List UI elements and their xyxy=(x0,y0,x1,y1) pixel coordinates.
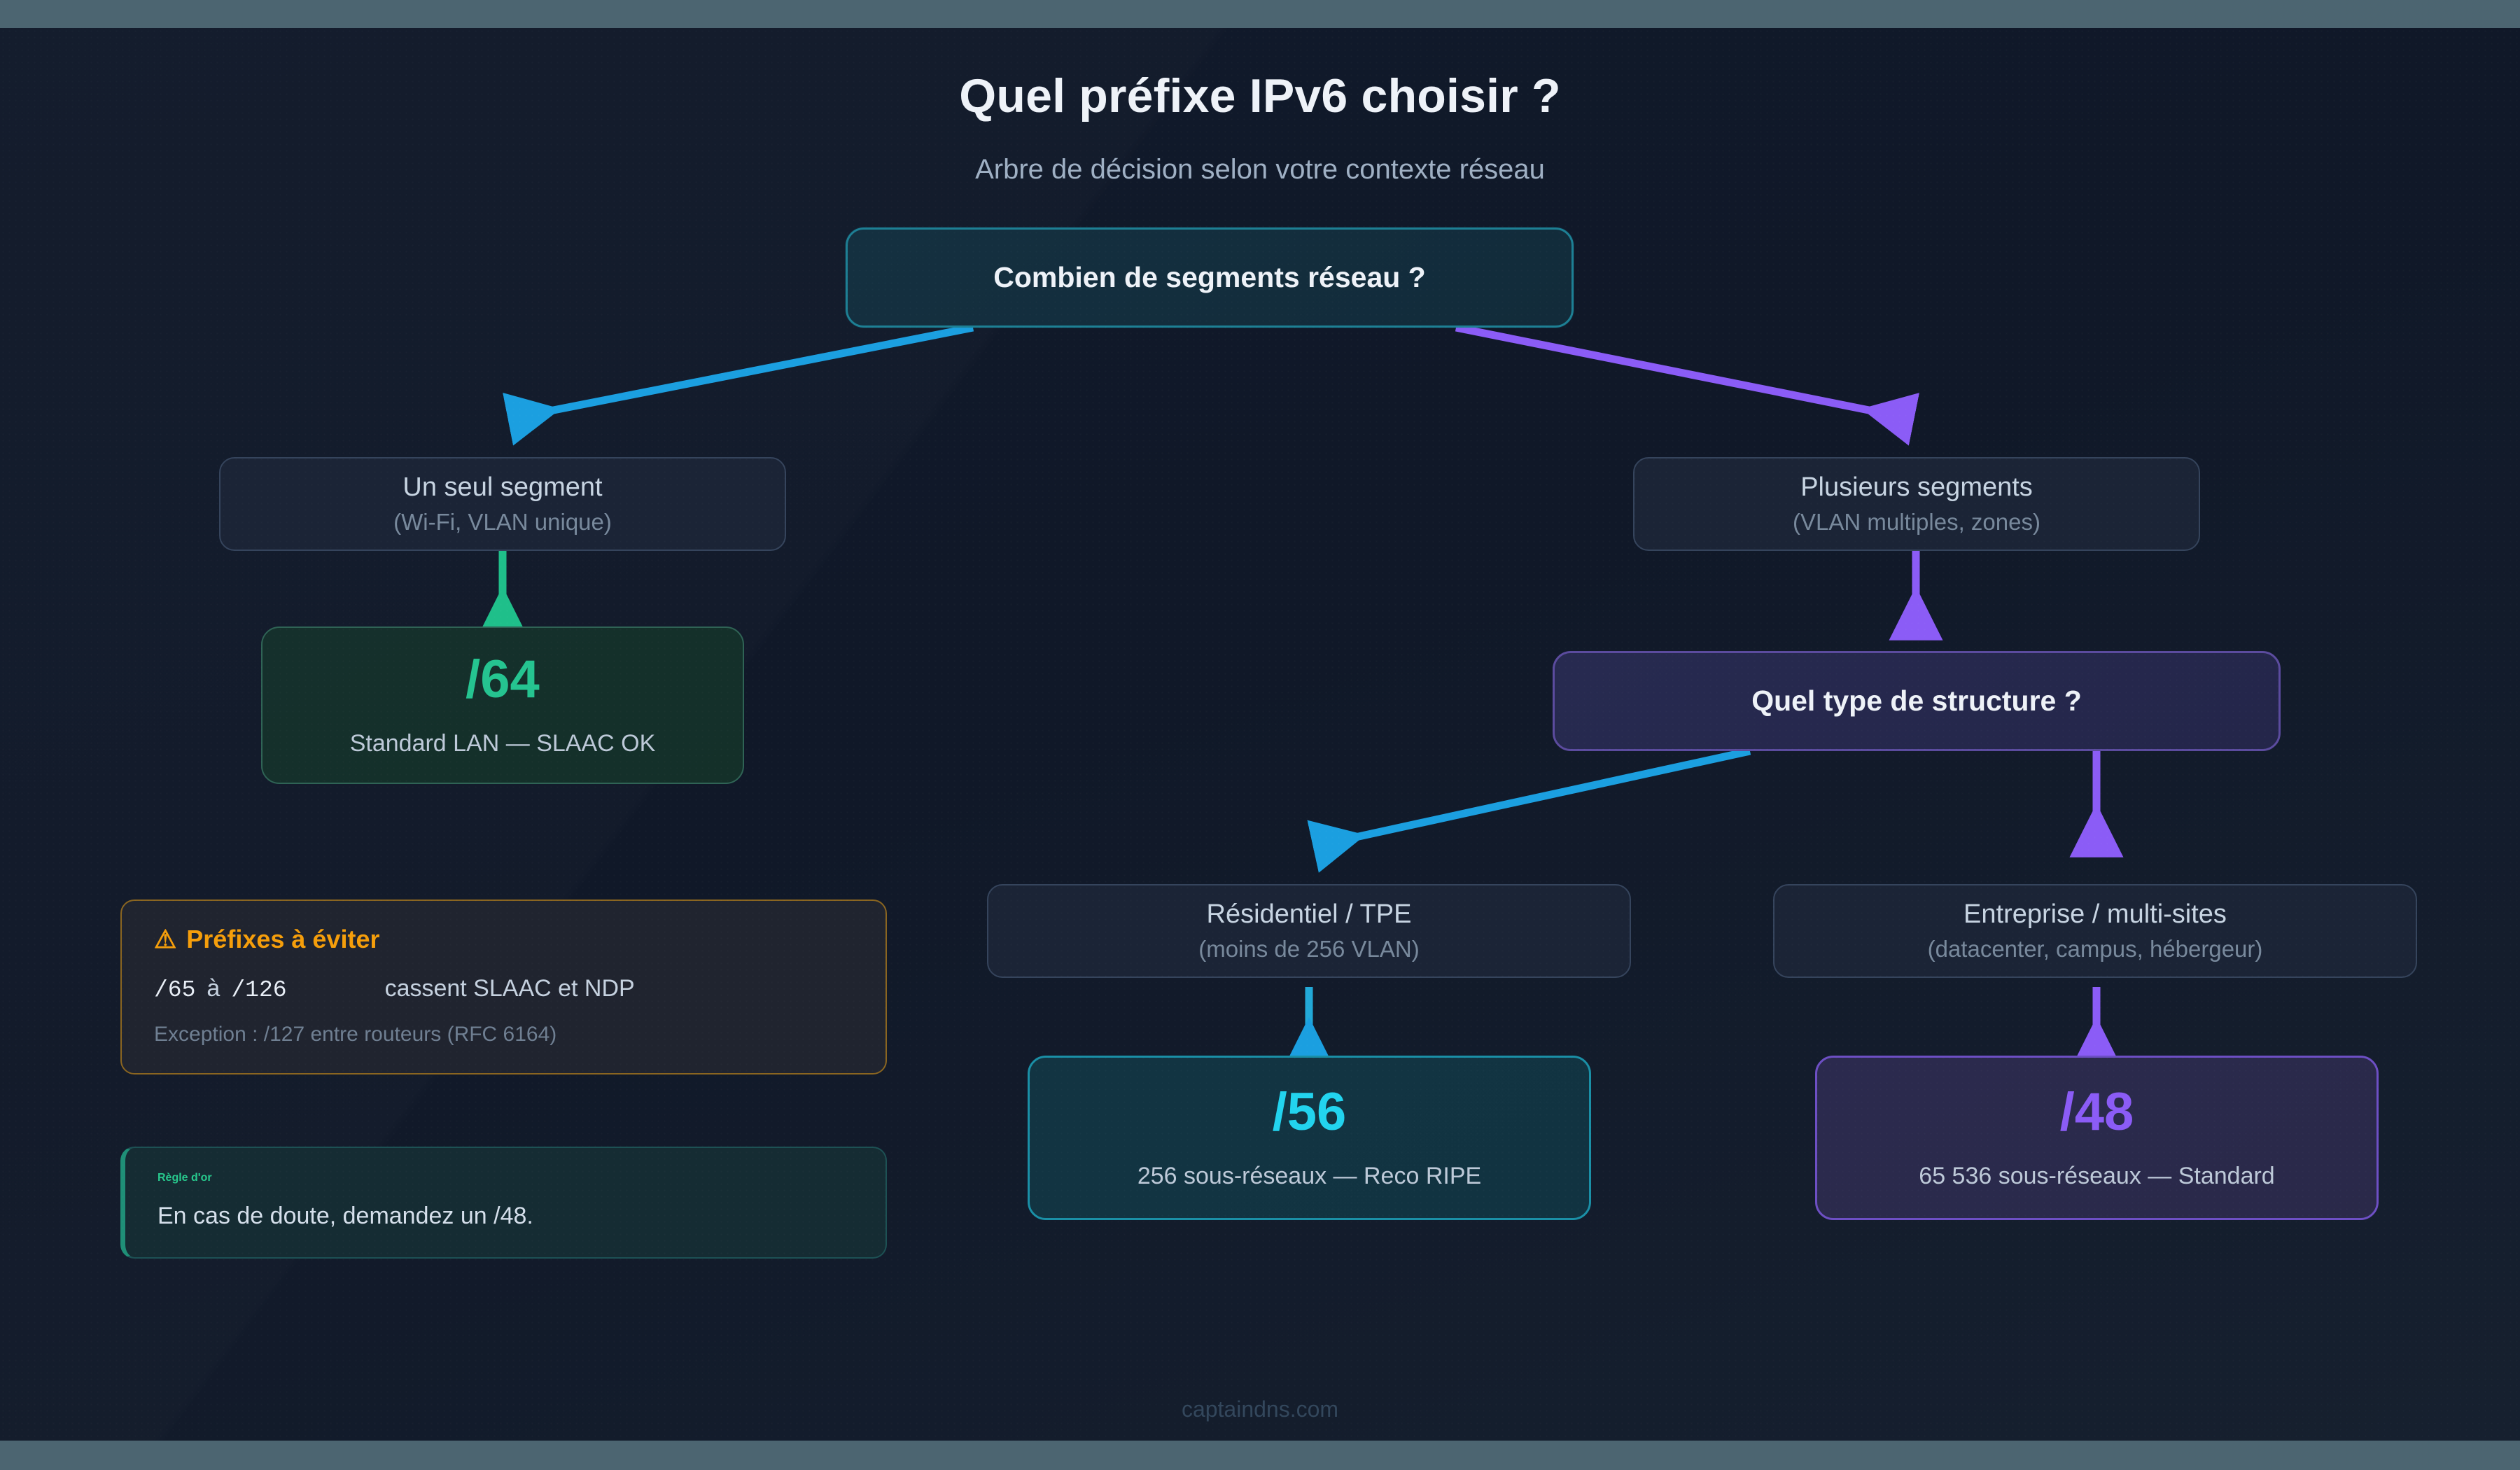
connector-root-to-single xyxy=(521,328,973,416)
node-structure-question[interactable]: Quel type de structure ? xyxy=(1553,651,2281,751)
node-residential-subtitle: (moins de 256 VLAN) xyxy=(1198,936,1419,962)
result-48-description: 65 536 sous-réseaux — Standard xyxy=(1919,1163,2274,1190)
result-56-prefix: /56 xyxy=(1273,1086,1347,1139)
node-single-segment[interactable]: Un seul segment (Wi‑Fi, VLAN unique) xyxy=(219,457,786,551)
connector-root-to-multi xyxy=(1456,328,1900,416)
node-enterprise-subtitle: (datacenter, campus, hébergeur) xyxy=(1928,936,2263,962)
result-64-prefix: /64 xyxy=(465,653,540,706)
node-result-56[interactable]: /56 256 sous-réseaux — Reco RIPE xyxy=(1028,1056,1591,1220)
warning-exception-note: Exception : /127 entre routeurs (RFC 616… xyxy=(154,1023,853,1046)
card-warning-title: Préfixes à éviter xyxy=(186,925,379,954)
page-title: Quel préfixe IPv6 choisir ? xyxy=(0,69,2520,123)
node-enterprise[interactable]: Entreprise / multi-sites (datacenter, ca… xyxy=(1773,884,2417,978)
result-48-prefix: /48 xyxy=(2060,1086,2134,1139)
card-rule-title: Règle d'or xyxy=(157,1172,853,1184)
page-subtitle: Arbre de décision selon votre contexte r… xyxy=(0,154,2520,185)
node-multiple-segments[interactable]: Plusieurs segments (VLAN multiples, zone… xyxy=(1633,457,2200,551)
card-warning-header: ⚠ Préfixes à éviter xyxy=(154,925,853,954)
card-prefixes-to-avoid: ⚠ Préfixes à éviter /65 à /126 cassent S… xyxy=(120,899,887,1074)
warning-range-line: /65 à /126 cassent SLAAC et NDP xyxy=(154,975,853,1003)
node-residential[interactable]: Résidentiel / TPE (moins de 256 VLAN) xyxy=(987,884,1631,978)
warning-range-to: /126 xyxy=(231,977,286,1003)
card-golden-rule: Règle d'or En cas de doute, demandez un … xyxy=(120,1147,887,1259)
node-residential-title: Résidentiel / TPE xyxy=(1207,899,1412,930)
node-enterprise-title: Entreprise / multi-sites xyxy=(1963,899,2227,930)
node-single-segment-title: Un seul segment xyxy=(402,472,602,503)
node-root-question[interactable]: Combien de segments réseau ? xyxy=(846,227,1574,328)
diagram-canvas: Quel préfixe IPv6 choisir ? Arbre de déc… xyxy=(0,28,2520,1441)
result-56-description: 256 sous-réseaux — Reco RIPE xyxy=(1137,1163,1481,1190)
result-64-description: Standard LAN — SLAAC OK xyxy=(350,730,656,757)
node-structure-label: Quel type de structure ? xyxy=(1751,685,2082,717)
warning-range-join: à xyxy=(206,975,220,1002)
connector-structure-to-residential xyxy=(1326,751,1750,843)
warning-icon: ⚠ xyxy=(154,925,176,954)
node-result-48[interactable]: /48 65 536 sous-réseaux — Standard xyxy=(1815,1056,2379,1220)
node-single-segment-subtitle: (Wi‑Fi, VLAN unique) xyxy=(393,509,612,535)
node-multiple-segments-title: Plusieurs segments xyxy=(1800,472,2033,503)
node-result-64[interactable]: /64 Standard LAN — SLAAC OK xyxy=(261,626,744,784)
node-root-label: Combien de segments réseau ? xyxy=(993,261,1425,294)
footer-watermark: captaindns.com xyxy=(0,1396,2520,1422)
warning-range-from: /65 xyxy=(154,977,195,1003)
warning-consequence: cassent SLAAC et NDP xyxy=(385,975,635,1002)
node-multiple-segments-subtitle: (VLAN multiples, zones) xyxy=(1793,509,2040,535)
card-rule-body: En cas de doute, demandez un /48. xyxy=(157,1203,853,1230)
